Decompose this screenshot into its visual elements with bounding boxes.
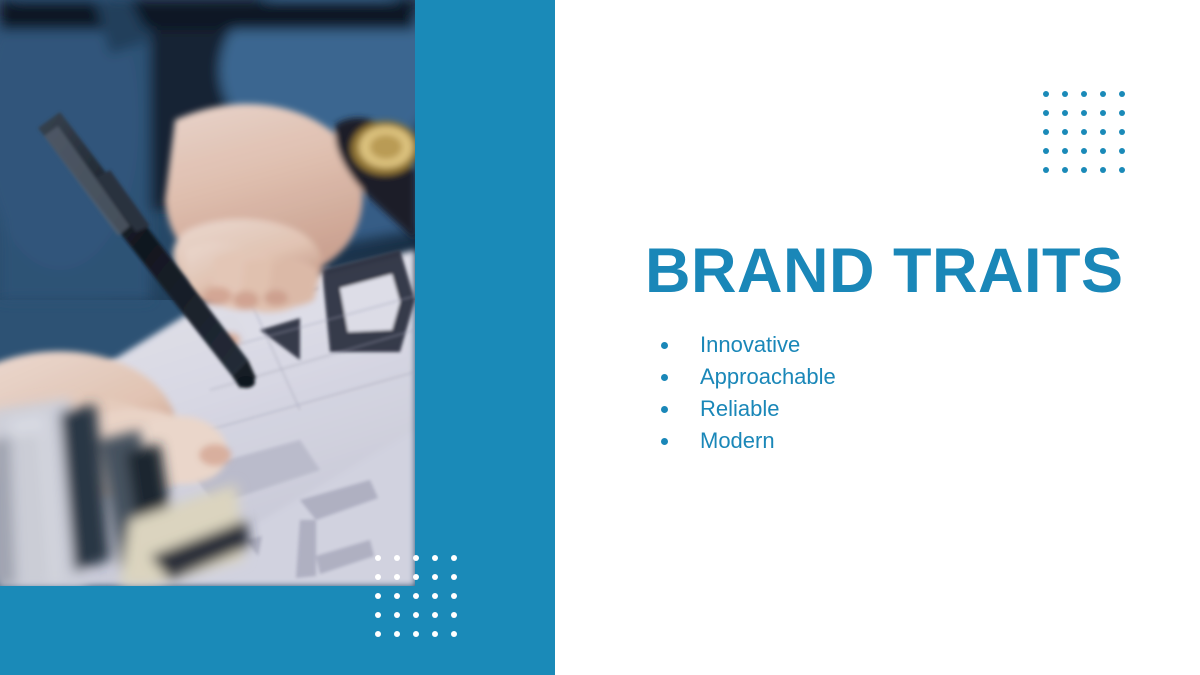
list-item: Innovative: [645, 329, 1145, 361]
dot: [413, 631, 419, 637]
dot: [1043, 110, 1049, 116]
dot: [375, 574, 381, 580]
dot: [432, 555, 438, 561]
dot: [1043, 167, 1049, 173]
blue-dot-grid: [1043, 91, 1138, 186]
white-dot-grid: [375, 555, 470, 650]
brand-traits-list: Innovative Approachable Reliable Modern: [645, 329, 1145, 457]
dot: [413, 593, 419, 599]
dot: [394, 574, 400, 580]
dot: [1100, 91, 1106, 97]
dot: [451, 631, 457, 637]
list-item: Reliable: [645, 393, 1145, 425]
hero-photo: [0, 0, 415, 586]
dot: [451, 593, 457, 599]
list-item-label: Reliable: [700, 396, 780, 421]
list-item: Approachable: [645, 361, 1145, 393]
dot: [432, 612, 438, 618]
dot: [1081, 110, 1087, 116]
page-title: BRAND TRAITS: [645, 240, 1145, 303]
dot: [1100, 110, 1106, 116]
list-item-label: Approachable: [700, 364, 836, 389]
dot: [1100, 148, 1106, 154]
dot: [1081, 91, 1087, 97]
dot: [1062, 110, 1068, 116]
dot: [1043, 129, 1049, 135]
bullet-icon: [661, 438, 668, 445]
dot: [1119, 91, 1125, 97]
dot: [1119, 110, 1125, 116]
hero-photo-illustration: [0, 0, 415, 586]
dot: [394, 555, 400, 561]
bullet-icon: [661, 342, 668, 349]
dot: [375, 612, 381, 618]
dot: [1119, 129, 1125, 135]
slide-canvas: BRAND TRAITS Innovative Approachable Rel…: [0, 0, 1200, 675]
dot: [1100, 167, 1106, 173]
dot: [1081, 148, 1087, 154]
dot: [1043, 148, 1049, 154]
dot: [375, 631, 381, 637]
dot: [1119, 148, 1125, 154]
list-item: Modern: [645, 425, 1145, 457]
dot: [413, 574, 419, 580]
dot: [1062, 129, 1068, 135]
dot: [394, 631, 400, 637]
dot: [432, 593, 438, 599]
dot: [375, 593, 381, 599]
dot: [1081, 167, 1087, 173]
dot: [1119, 167, 1125, 173]
dot: [1062, 167, 1068, 173]
dot: [413, 555, 419, 561]
dot: [432, 574, 438, 580]
list-item-label: Innovative: [700, 332, 800, 357]
dot: [1081, 129, 1087, 135]
dot: [413, 612, 419, 618]
dot: [451, 574, 457, 580]
dot: [1043, 91, 1049, 97]
bullet-icon: [661, 406, 668, 413]
dot: [432, 631, 438, 637]
dot: [1062, 148, 1068, 154]
dot: [1062, 91, 1068, 97]
dot: [451, 612, 457, 618]
bullet-icon: [661, 374, 668, 381]
list-item-label: Modern: [700, 428, 775, 453]
dot: [451, 555, 457, 561]
dot: [1100, 129, 1106, 135]
dot: [394, 612, 400, 618]
content-block: BRAND TRAITS Innovative Approachable Rel…: [645, 240, 1145, 457]
dot: [394, 593, 400, 599]
dot: [375, 555, 381, 561]
